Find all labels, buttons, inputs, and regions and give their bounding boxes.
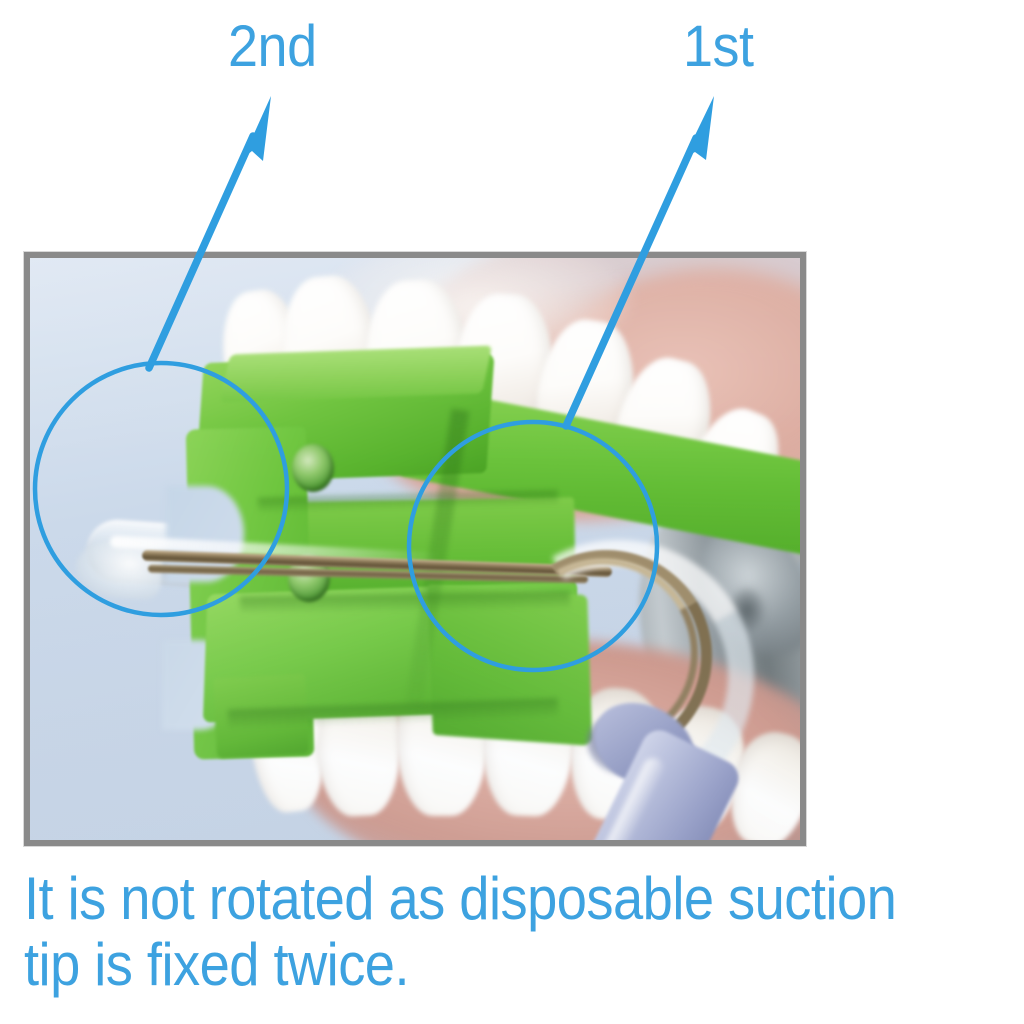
callout-label-2nd: 2nd [228,18,317,76]
caption-text: It is not rotated as disposable suction … [24,866,920,998]
retractor-top-face [220,345,492,402]
photo-content [30,258,800,840]
instruction-figure: 2nd 1st [0,0,1024,1024]
product-photo [24,252,806,846]
callout-label-1st: 1st [683,18,754,76]
retractor-hinge-screw [292,444,334,492]
